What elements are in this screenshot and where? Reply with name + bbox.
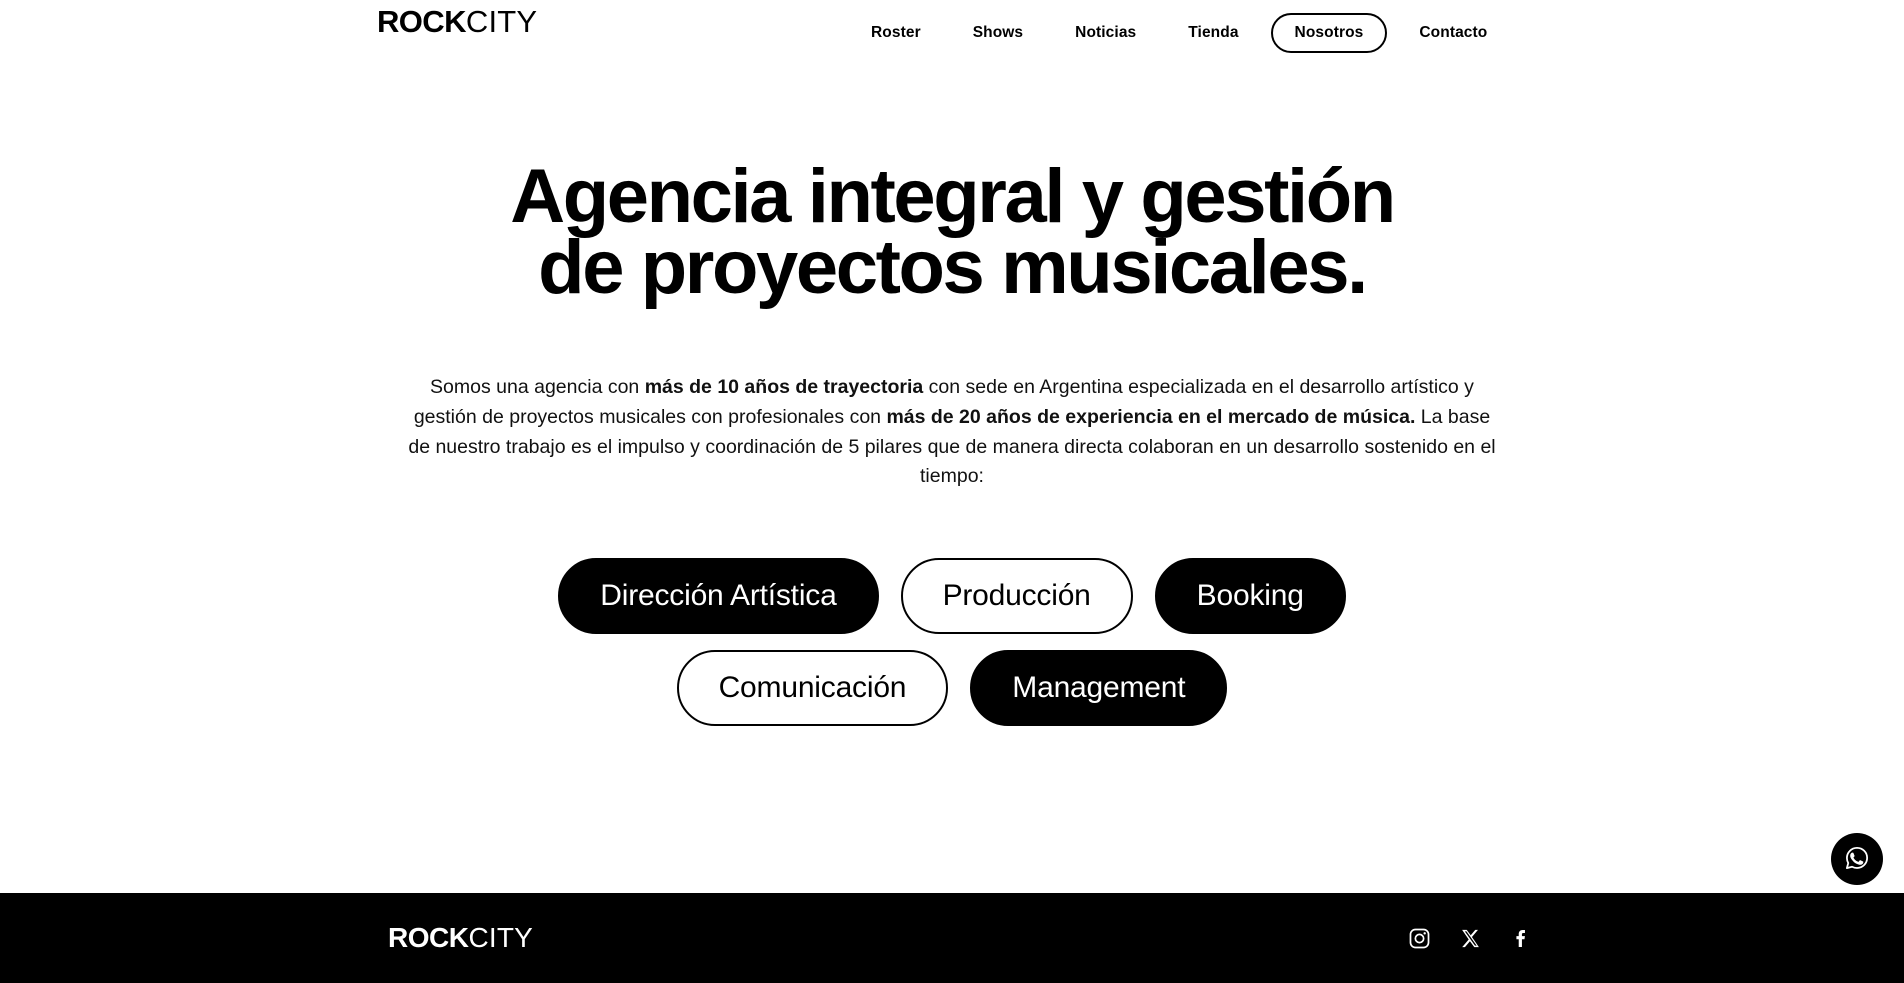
intro-paragraph: Somos una agencia con más de 10 años de … — [404, 373, 1500, 492]
footer-social-links — [1406, 925, 1534, 951]
whatsapp-float-button[interactable] — [1831, 833, 1883, 885]
main-content: Agencia integral y gestión de proyectos … — [0, 66, 1904, 726]
site-header: ROCKCITY Roster Shows Noticias Tienda No… — [0, 0, 1904, 66]
intro-text-bold-2: más de 20 años de experiencia en el merc… — [886, 406, 1415, 428]
footer-brand-light: CITY — [468, 922, 533, 953]
instagram-icon[interactable] — [1406, 925, 1432, 951]
pillar-direccion-artistica[interactable]: Dirección Artística — [558, 558, 878, 634]
footer-brand-bold: ROCK — [388, 922, 468, 953]
pillar-booking[interactable]: Booking — [1155, 558, 1346, 634]
brand-logo[interactable]: ROCKCITY — [377, 6, 537, 37]
facebook-icon[interactable] — [1508, 925, 1534, 951]
x-twitter-icon[interactable] — [1457, 925, 1483, 951]
nav-item-tienda[interactable]: Tienda — [1162, 24, 1264, 42]
nav-item-nosotros[interactable]: Nosotros — [1271, 13, 1388, 53]
main-navigation: Roster Shows Noticias Tienda Nosotros Co… — [845, 0, 1513, 66]
page-title: Agencia integral y gestión de proyectos … — [362, 162, 1542, 303]
nav-item-contacto[interactable]: Contacto — [1393, 24, 1513, 42]
whatsapp-icon — [1842, 843, 1872, 876]
pillars-group: Dirección Artística Producción Booking C… — [0, 558, 1904, 726]
footer-brand-logo[interactable]: ROCKCITY — [388, 924, 533, 952]
pillars-row-1: Dirección Artística Producción Booking — [558, 558, 1345, 634]
intro-text-bold-1: más de 10 años de trayectoria — [645, 376, 924, 398]
brand-logo-bold: ROCK — [377, 4, 466, 39]
site-footer: ROCKCITY — [0, 893, 1904, 983]
pillar-comunicacion[interactable]: Comunicación — [677, 650, 949, 726]
pillar-produccion[interactable]: Producción — [901, 558, 1133, 634]
nav-item-noticias[interactable]: Noticias — [1049, 24, 1162, 42]
pillar-management[interactable]: Management — [970, 650, 1227, 726]
pillars-row-2: Comunicación Management — [677, 650, 1228, 726]
intro-text-part-1: Somos una agencia con — [430, 376, 645, 398]
nav-item-shows[interactable]: Shows — [947, 24, 1049, 42]
nav-item-roster[interactable]: Roster — [845, 24, 947, 42]
brand-logo-light: CITY — [466, 4, 537, 39]
page-title-line-2: de proyectos musicales. — [538, 225, 1366, 310]
